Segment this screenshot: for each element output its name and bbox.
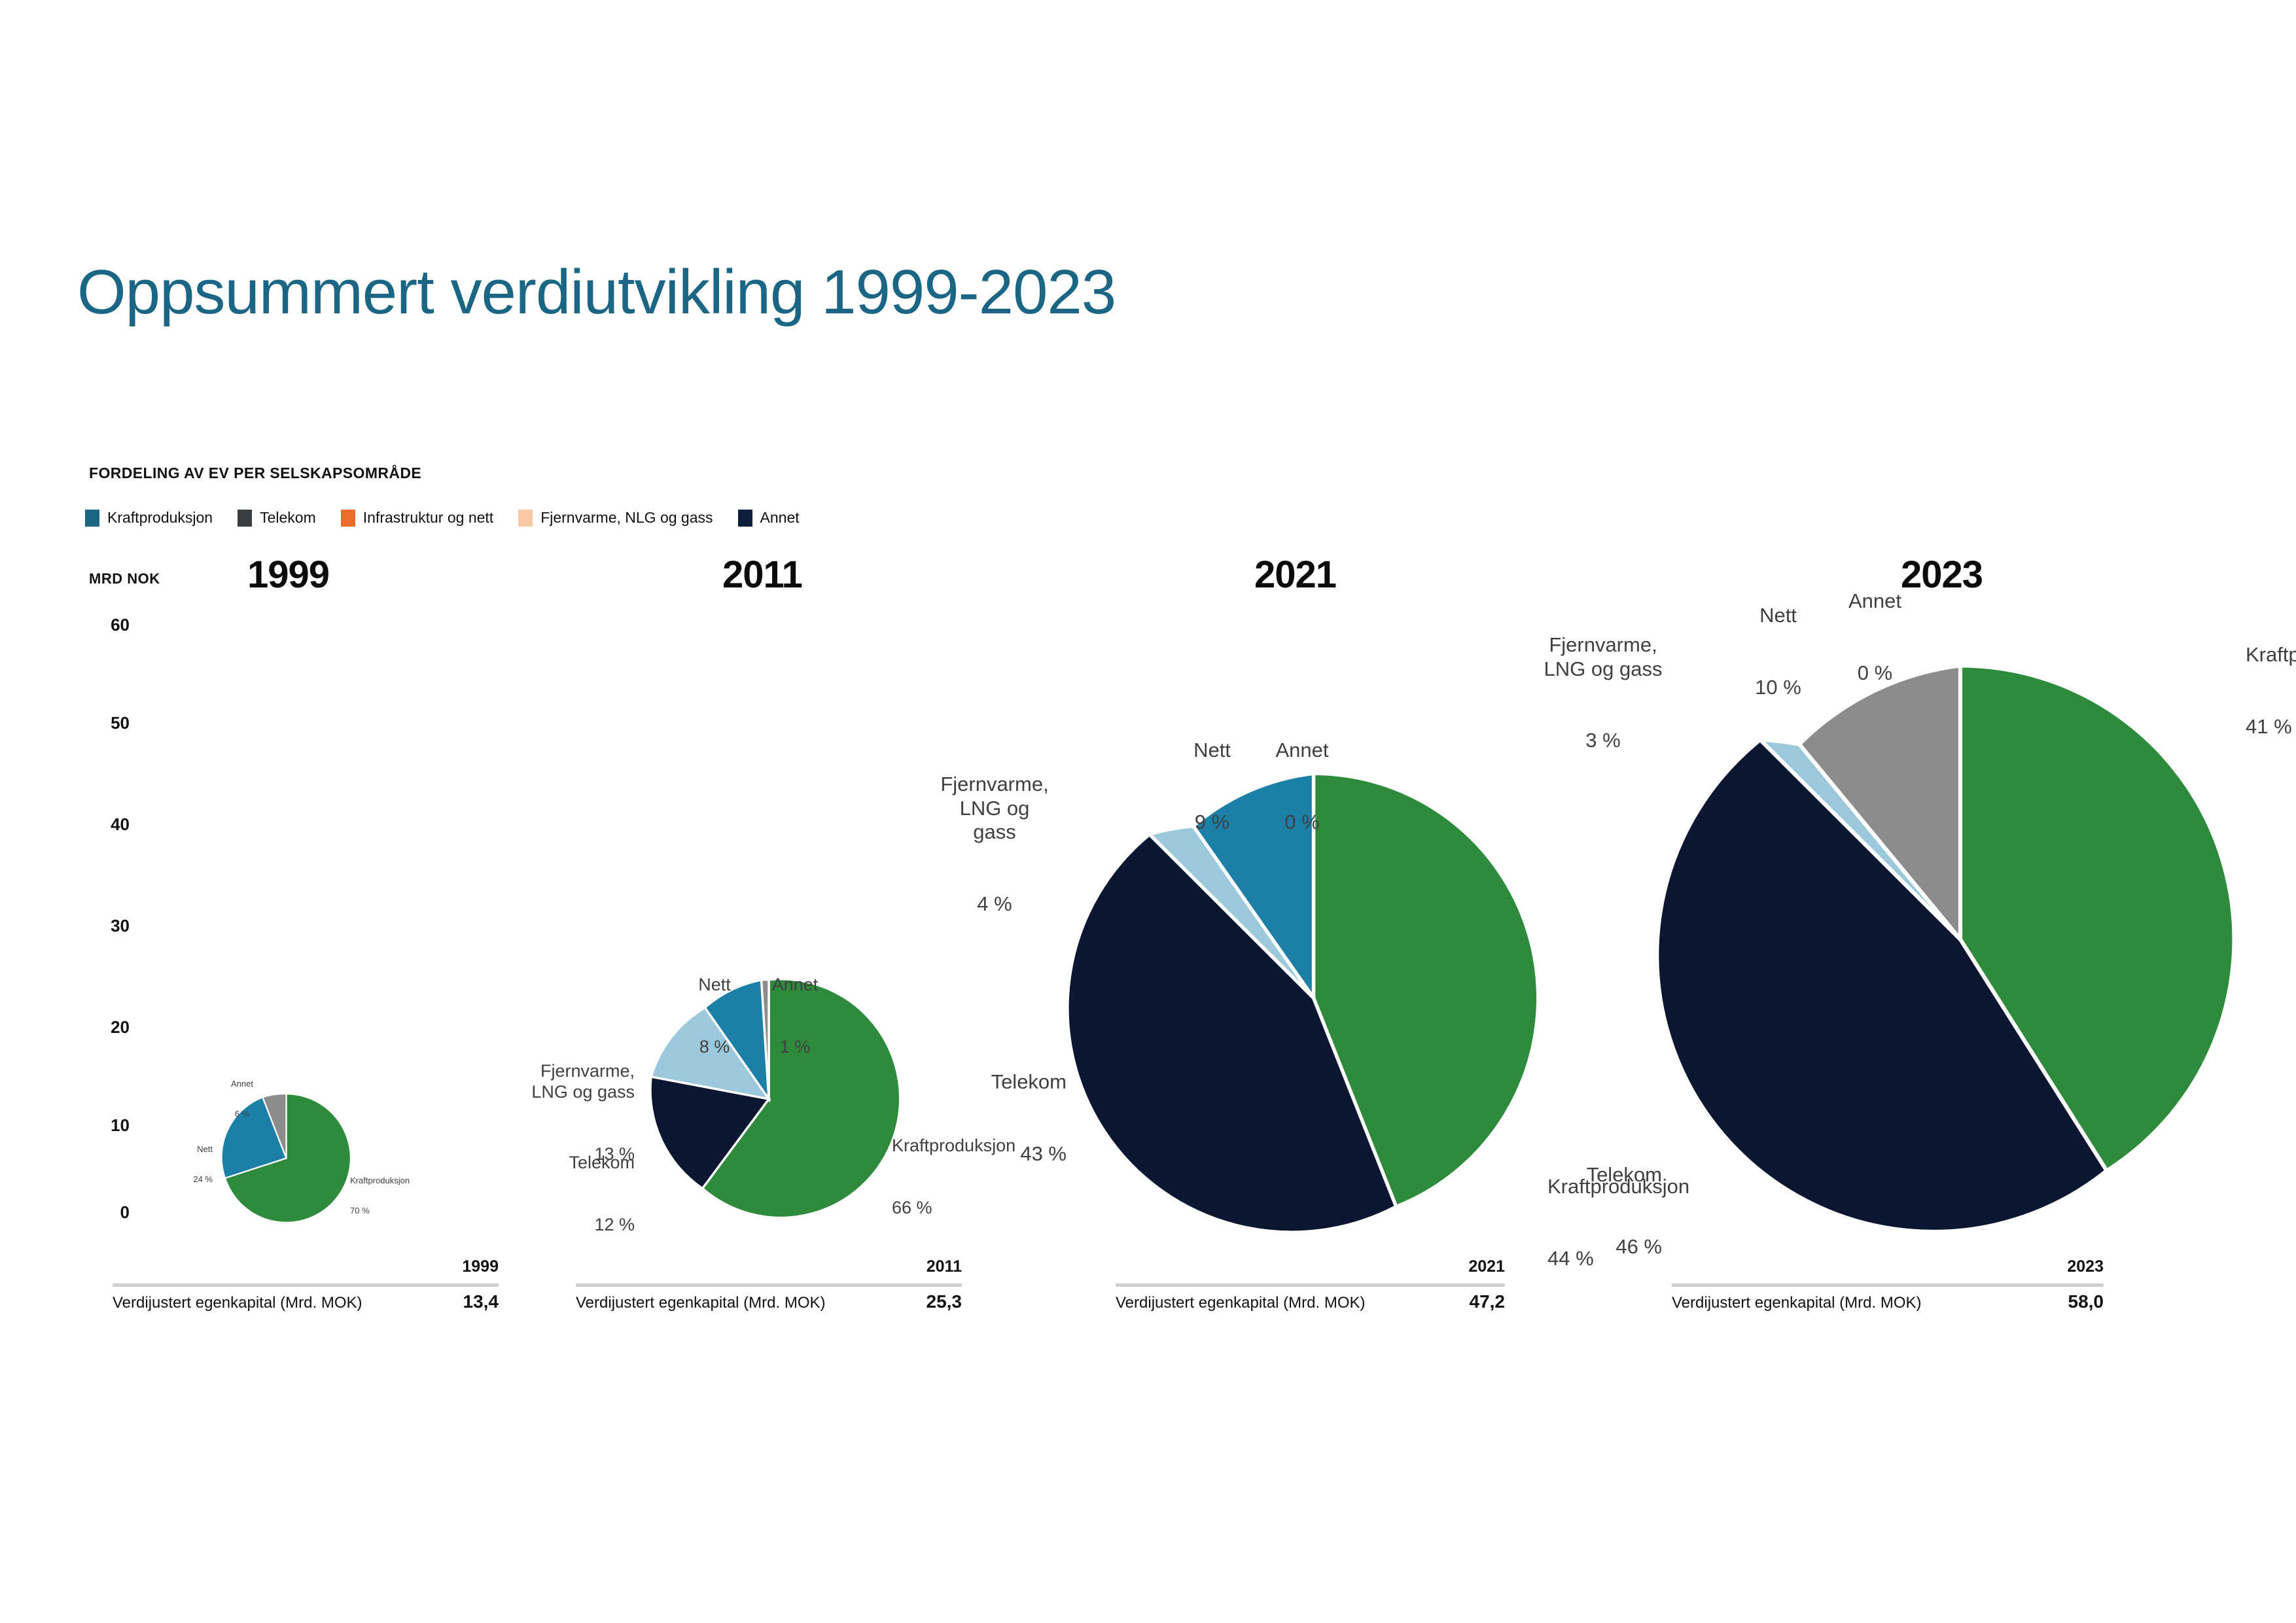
table-row-value: 25,3 xyxy=(927,1291,963,1312)
page-title: Oppsummert verdiutvikling 1999-2023 xyxy=(77,256,1116,328)
year-heading-2011: 2011 xyxy=(722,553,802,597)
axis-tick-30: 30 xyxy=(77,916,130,936)
legend-item-kraftproduksjon[interactable]: Kraftproduksjon xyxy=(85,509,213,527)
legend-item-label: Kraftproduksjon xyxy=(107,509,213,527)
axis-tick-0: 0 xyxy=(77,1202,130,1223)
pie-chart-2023: Kraftproduksjon 41 % Telekom 46 % Fjernv… xyxy=(1675,654,2246,1225)
pie-label-kraftproduksjon: Kraftproduksjon 70 % xyxy=(350,1155,410,1236)
table-header-year: 2023 xyxy=(2067,1257,2104,1276)
pie-chart-1999: Kraftproduksjon 70 % Nett 24 % Annet 6 % xyxy=(219,1091,353,1225)
legend-item-label: Infrastruktur og nett xyxy=(363,509,493,527)
pie-label-nett: Nett 10 % xyxy=(1744,556,1812,748)
axis-tick-50: 50 xyxy=(77,713,130,733)
table-row-label: Verdijustert egenkapital (Mrd. MOK) xyxy=(113,1294,362,1312)
legend-item-label: Annet xyxy=(760,509,800,527)
table-rule xyxy=(1116,1283,1505,1287)
legend: Kraftproduksjon Telekom Infrastruktur og… xyxy=(85,509,824,527)
table-row-value: 13,4 xyxy=(463,1291,499,1312)
pie-label-annet: Annet 0 % xyxy=(1266,691,1338,882)
pie-label-nett: Nett 9 % xyxy=(1181,691,1243,882)
table-rule xyxy=(1672,1283,2104,1287)
pie-label-kraftproduksjon: Kraftproduksjon 41 % xyxy=(2246,595,2296,787)
pie-label-fjernvarme: Fjernvarme, LNG og gass 4 % xyxy=(936,725,1053,964)
legend-heading: FORDELING AV EV PER SELSKAPSOMRÅDE xyxy=(89,464,421,482)
axis-tick-40: 40 xyxy=(77,814,130,835)
table-rule xyxy=(576,1283,962,1287)
pie-label-annet: Annet 1 % xyxy=(766,933,824,1100)
table-header-year: 1999 xyxy=(462,1257,499,1276)
legend-swatch-icon xyxy=(238,510,252,527)
pie-chart-2021: Kraftproduksjon 44 % Telekom 43 % Fjernv… xyxy=(1080,764,1547,1232)
table-row-label: Verdijustert egenkapital (Mrd. MOK) xyxy=(1672,1294,1921,1312)
pie-label-nett: Nett 24 % xyxy=(147,1124,213,1204)
legend-item-label: Telekom xyxy=(260,509,316,527)
axis-tick-20: 20 xyxy=(77,1017,130,1038)
legend-item-fjernvarme-nlg-og-gass[interactable]: Fjernvarme, NLG og gass xyxy=(518,509,713,527)
table-row-label: Verdijustert egenkapital (Mrd. MOK) xyxy=(576,1294,825,1312)
legend-item-label: Fjernvarme, NLG og gass xyxy=(540,509,713,527)
legend-item-annet[interactable]: Annet xyxy=(738,509,800,527)
legend-swatch-icon xyxy=(85,510,99,527)
legend-swatch-icon xyxy=(518,510,533,527)
pie-label-fjernvarme: Fjernvarme, LNG og gass 3 % xyxy=(1525,585,1682,801)
table-header-year: 2011 xyxy=(927,1257,962,1276)
pie-label-annet: Annet 0 % xyxy=(1837,542,1913,733)
legend-swatch-icon xyxy=(738,510,752,527)
pie-label-nett: Nett 8 % xyxy=(685,933,744,1100)
pie-label-telekom: Telekom 43 % xyxy=(932,1022,1067,1214)
legend-item-telekom[interactable]: Telekom xyxy=(238,509,316,527)
year-heading-1999: 1999 xyxy=(247,553,329,597)
legend-item-infrastruktur-og-nett[interactable]: Infrastruktur og nett xyxy=(341,509,493,527)
slide-canvas: Oppsummert verdiutvikling 1999-2023 FORD… xyxy=(0,0,2296,1623)
table-row-value: 58,0 xyxy=(2068,1291,2104,1312)
legend-swatch-icon xyxy=(341,510,355,527)
year-heading-2023: 2023 xyxy=(1901,553,1983,597)
axis-tick-60: 60 xyxy=(77,615,130,635)
pie-label-annet: Annet 6 % xyxy=(216,1058,268,1139)
pie-label-fjernvarme: Fjernvarme, LNG og gass 13 % xyxy=(494,1019,635,1207)
pie-chart-2011: Kraftproduksjon 66 % Telekom 12 % Fjernv… xyxy=(645,975,893,1223)
axis-tick-10: 10 xyxy=(77,1115,130,1136)
axis-unit-label: MRD NOK xyxy=(89,570,160,587)
table-row-value: 47,2 xyxy=(1470,1291,1506,1312)
table-rule xyxy=(113,1283,499,1287)
table-row-label: Verdijustert egenkapital (Mrd. MOK) xyxy=(1116,1294,1365,1312)
table-header-year: 2021 xyxy=(1468,1257,1505,1276)
pie-label-telekom: Telekom 46 % xyxy=(1525,1115,1662,1307)
year-heading-2021: 2021 xyxy=(1254,553,1336,597)
